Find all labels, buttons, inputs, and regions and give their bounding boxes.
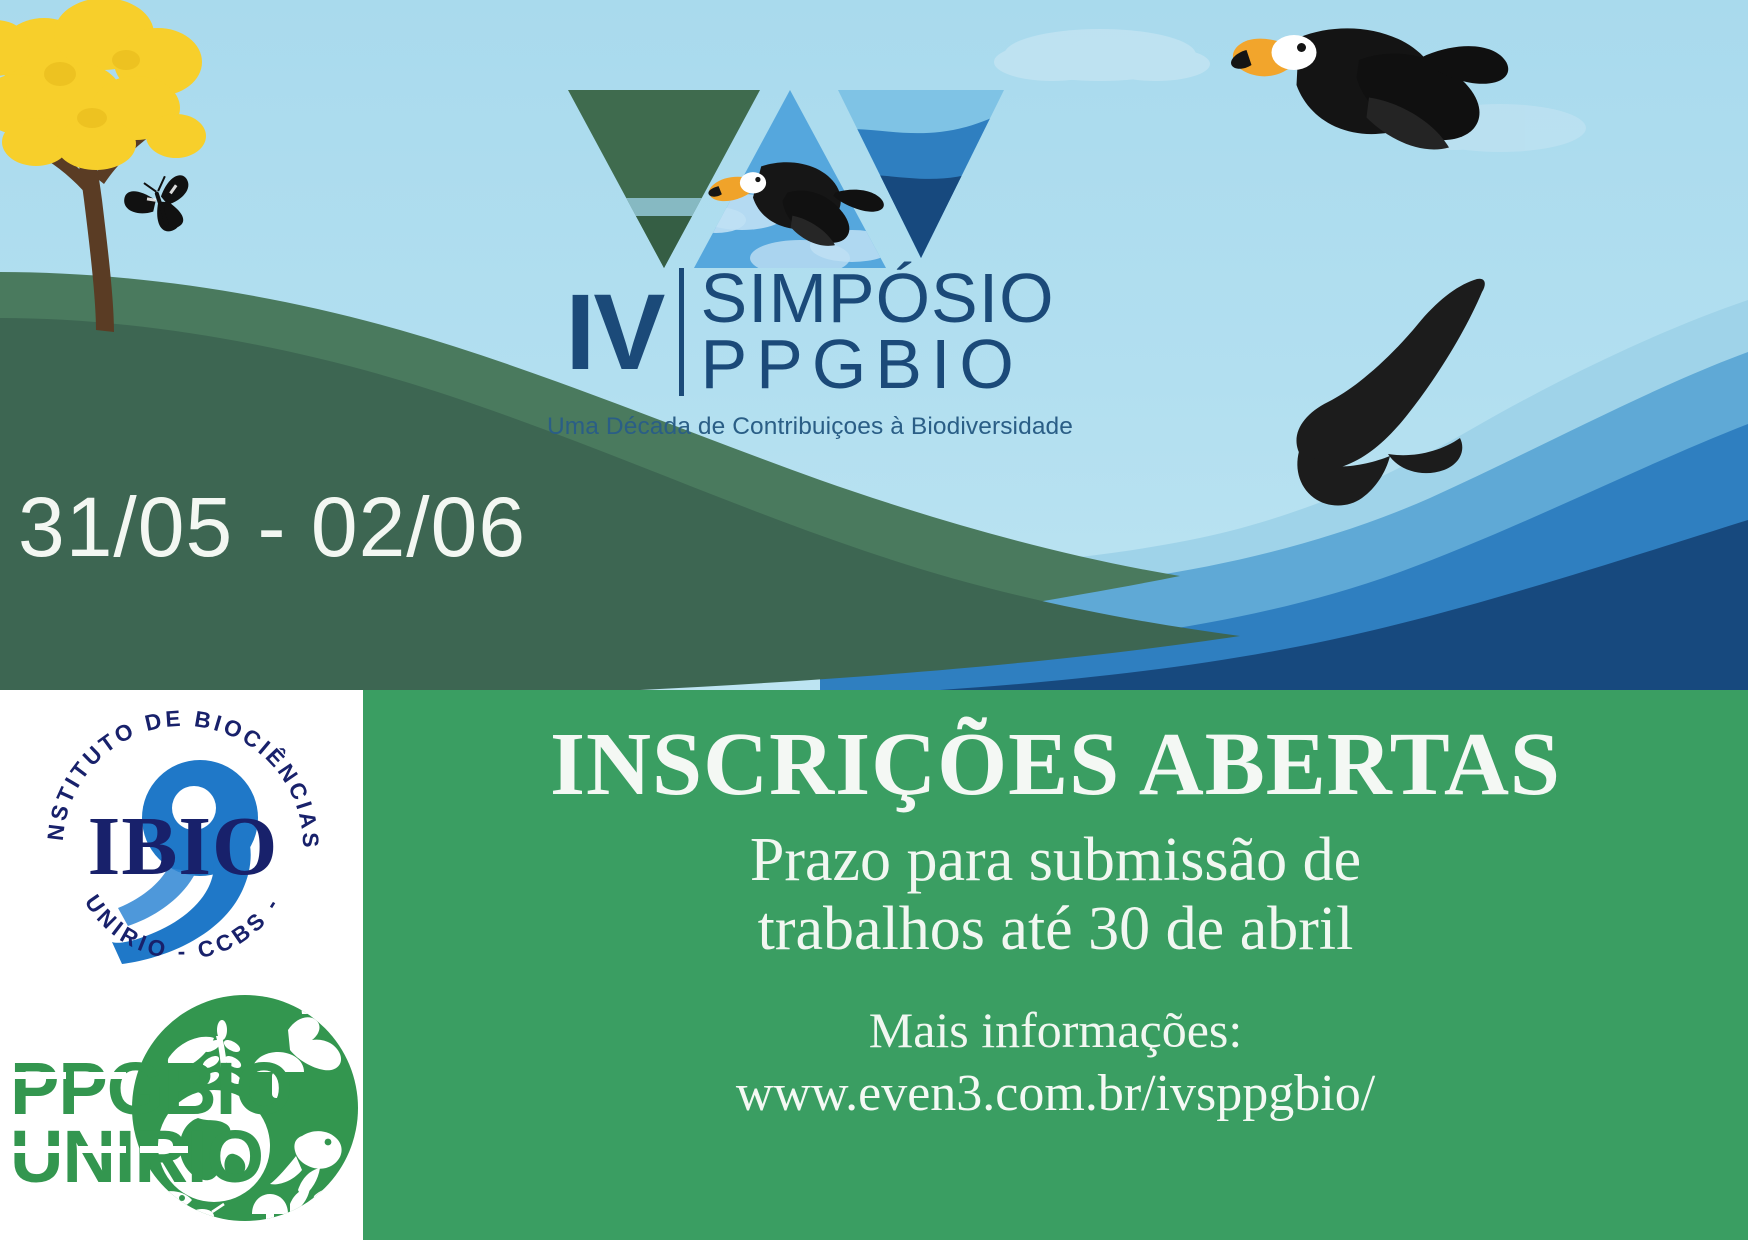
logo-line-simposio: SIMPÓSIO	[700, 266, 1054, 332]
ibio-logo-svg: IBIO INSTITUTO DE BIOCIÊNCIAS UNIRIO - C…	[18, 696, 348, 971]
scene-illustration: IV SIMPÓSIO PPGBIO Uma Década de Contrib…	[0, 0, 1748, 690]
deadline-line-1: Prazo para submissão de	[750, 826, 1361, 895]
logo-line-ppgbio: PPGBIO	[700, 332, 1054, 398]
announcement-panel: IBIO INSTITUTO DE BIOCIÊNCIAS UNIRIO - C…	[0, 690, 1748, 1240]
logo-tagline: Uma Década de Contribuiçoes à Biodiversi…	[540, 413, 1080, 441]
cloud-icon	[994, 29, 1210, 81]
event-logo: IV SIMPÓSIO PPGBIO Uma Década de Contrib…	[540, 78, 1080, 468]
ppgbio-logo-svg: PPGBIO UNIRIO	[2, 968, 362, 1236]
logo-wordmark: IV SIMPÓSIO PPGBIO	[540, 266, 1080, 398]
butterfly-icon	[120, 170, 200, 242]
ppgbio-label-line2: UNIRIO	[10, 1115, 263, 1198]
more-info-label: Mais informações:	[869, 1002, 1243, 1060]
ibio-logo: IBIO INSTITUTO DE BIOCIÊNCIAS UNIRIO - C…	[18, 696, 348, 971]
submission-deadline: Prazo para submissão de trabalhos até 30…	[750, 826, 1361, 965]
deadline-line-2: trabalhos até 30 de abril	[750, 895, 1361, 964]
poster-root: IV SIMPÓSIO PPGBIO Uma Década de Contrib…	[0, 0, 1748, 1240]
ppgbio-unirio-logo: PPGBIO UNIRIO	[2, 968, 362, 1236]
logo-roman-numeral: IV	[565, 281, 679, 384]
logo-divider	[679, 268, 684, 396]
announcement-headline: INSCRIÇÕES ABERTAS	[550, 718, 1561, 812]
toucan-icon	[1231, 28, 1508, 149]
ibio-center-label: IBIO	[88, 800, 279, 893]
event-url[interactable]: www.even3.com.br/ivsppgbio/	[736, 1064, 1375, 1124]
announcement-copy: INSCRIÇÕES ABERTAS Prazo para submissão …	[363, 690, 1748, 1240]
institution-logo-column: IBIO INSTITUTO DE BIOCIÊNCIAS UNIRIO - C…	[0, 690, 363, 1240]
event-date-range: 31/05 - 02/06	[18, 485, 526, 569]
